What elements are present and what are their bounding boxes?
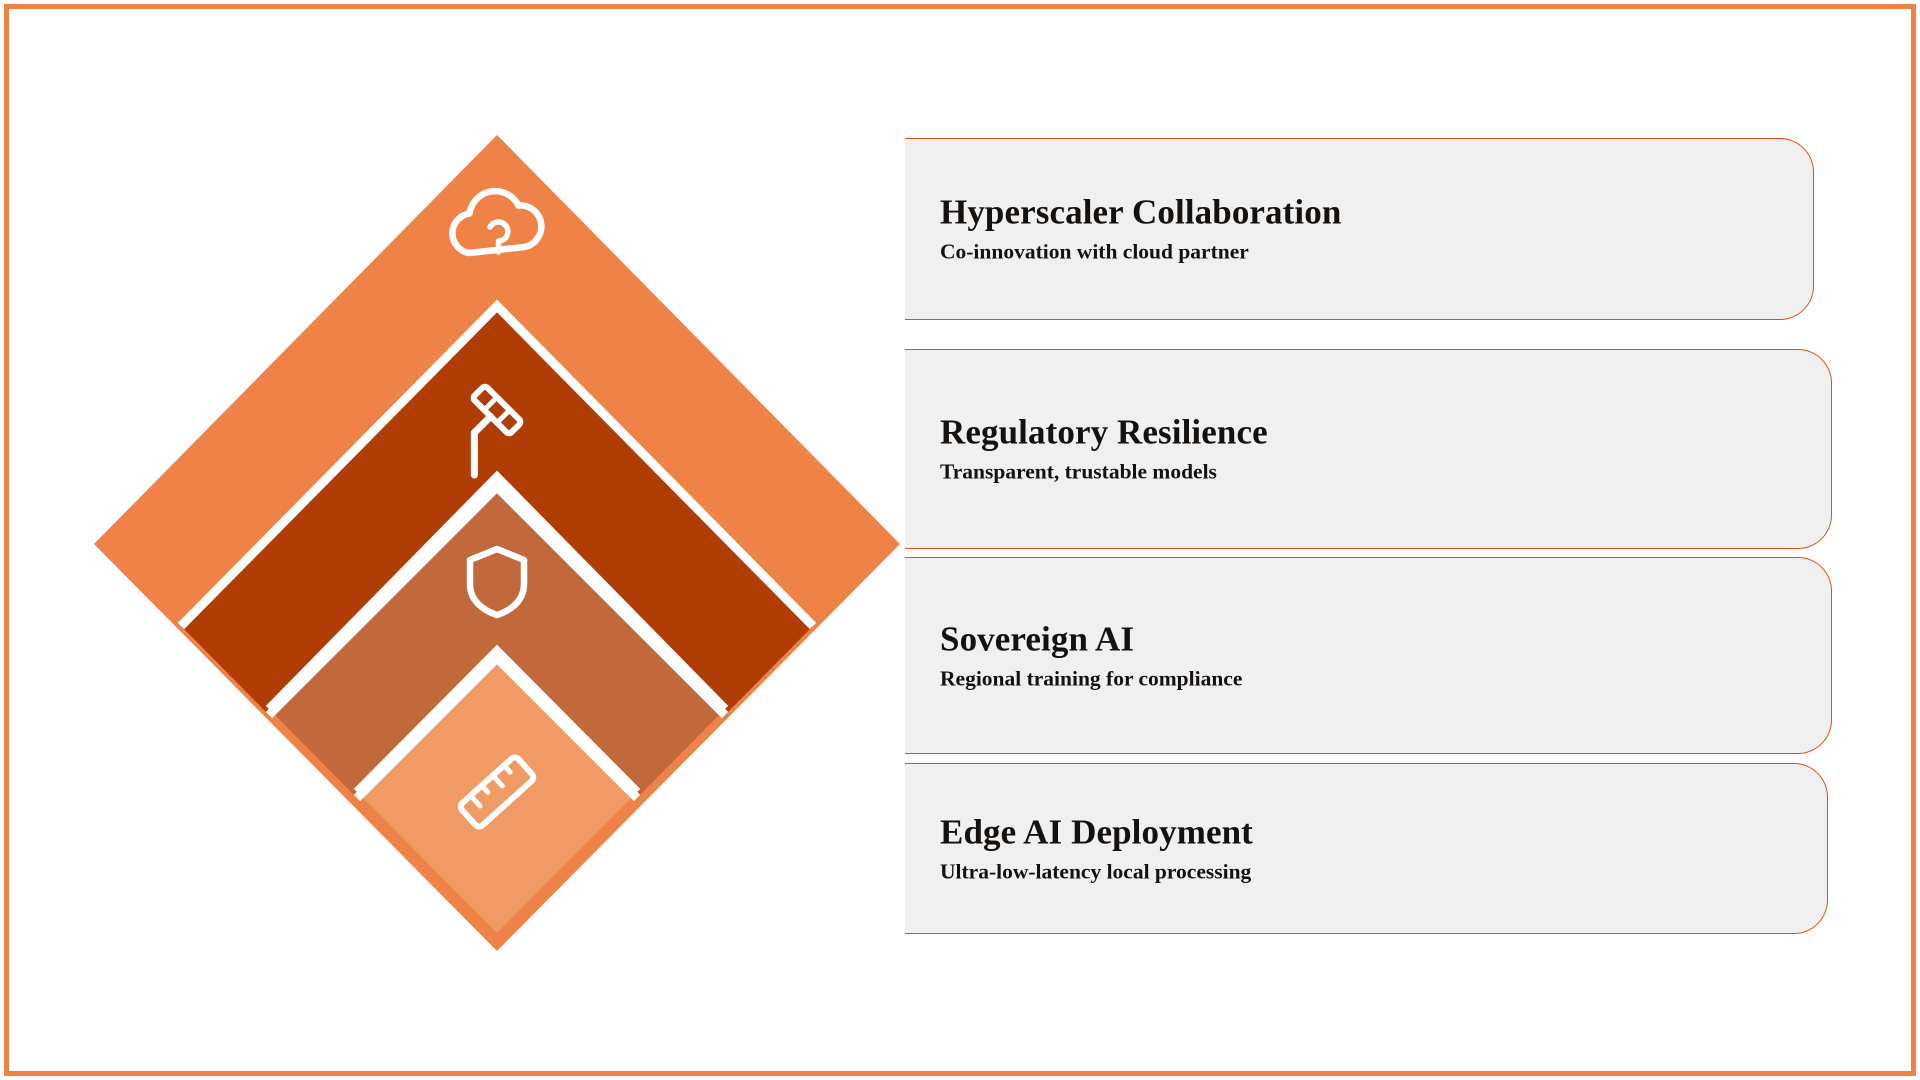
card-3-text: Sovereign AI Regional training for compl…	[940, 618, 1800, 693]
card-3-title: Sovereign AI	[940, 618, 1800, 659]
card-1-title: Hyperscaler Collaboration	[940, 191, 1800, 232]
card-3-subtitle: Regional training for compliance	[940, 665, 1800, 693]
card-1-text: Hyperscaler Collaboration Co-innovation …	[940, 191, 1800, 266]
card-2-subtitle: Transparent, trustable models	[940, 459, 1800, 487]
card-1-subtitle: Co-innovation with cloud partner	[940, 239, 1800, 267]
card-2-text: Regulatory Resilience Transparent, trust…	[940, 411, 1800, 486]
card-1[interactable]: Hyperscaler Collaboration Co-innovation …	[470, 138, 1814, 320]
card-4[interactable]: Edge AI Deployment Ultra-low-latency loc…	[470, 763, 1828, 934]
card-4-text: Edge AI Deployment Ultra-low-latency loc…	[940, 811, 1800, 886]
card-2-title: Regulatory Resilience	[940, 411, 1800, 452]
card-4-subtitle: Ultra-low-latency local processing	[940, 858, 1800, 886]
card-4-title: Edge AI Deployment	[940, 811, 1800, 852]
infographic-canvas: Hyperscaler Collaboration Co-innovation …	[0, 0, 1920, 1080]
